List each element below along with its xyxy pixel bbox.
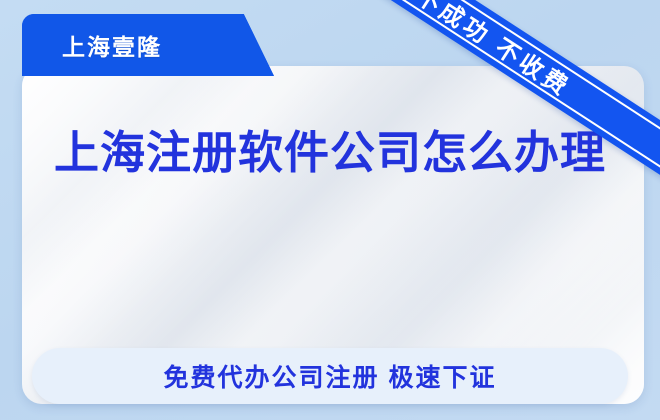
cta-pill-label: 免费代办公司注册 极速下证 <box>164 358 497 394</box>
page-title: 上海注册软件公司怎么办理 <box>0 128 660 178</box>
cta-pill[interactable]: 免费代办公司注册 极速下证 <box>32 348 628 404</box>
brand-tab-label: 上海壹隆 <box>62 28 162 62</box>
poster-canvas: 上海壹隆 上海注册软件公司怎么办理 免费代办公司注册 极速下证 不成功 不收费 <box>0 0 660 420</box>
